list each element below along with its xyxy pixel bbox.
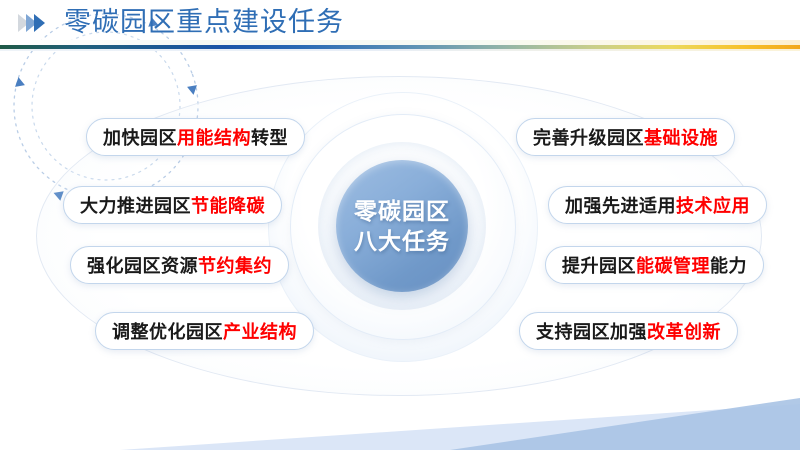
chevron-right-icon-3 — [34, 14, 45, 32]
header-rule-thin — [0, 49, 800, 51]
task-pill-right-1[interactable]: 完善升级园区基础设施 — [516, 118, 735, 156]
slide-canvas: 零碳园区重点建设任务 零碳园区 八大任务 加快园区用能结构转型 大力推进园区节能… — [0, 0, 800, 450]
task-pill-left-3[interactable]: 强化园区资源节约集约 — [70, 246, 289, 284]
task-pill-left-4[interactable]: 调整优化园区产业结构 — [95, 312, 314, 350]
task-label-left-3: 强化园区资源节约集约 — [87, 252, 272, 278]
slide-header: 零碳园区重点建设任务 — [0, 0, 800, 52]
hub-core-line2: 八大任务 — [354, 226, 450, 256]
task-pill-right-3[interactable]: 提升园区能碳管理能力 — [545, 246, 764, 284]
task-label-left-1: 加快园区用能结构转型 — [103, 124, 288, 150]
chevron-group — [18, 14, 42, 32]
task-label-right-3: 提升园区能碳管理能力 — [562, 252, 747, 278]
task-label-right-4: 支持园区加强改革创新 — [536, 318, 721, 344]
page-title: 零碳园区重点建设任务 — [64, 5, 344, 39]
task-label-right-2: 加强先进适用技术应用 — [565, 192, 750, 218]
task-pill-right-4[interactable]: 支持园区加强改革创新 — [519, 312, 738, 350]
hub-core: 零碳园区 八大任务 — [336, 160, 468, 292]
task-pill-left-2[interactable]: 大力推进园区节能降碳 — [63, 186, 282, 224]
task-label-left-2: 大力推进园区节能降碳 — [80, 192, 265, 218]
task-label-right-1: 完善升级园区基础设施 — [533, 124, 718, 150]
hub-core-line1: 零碳园区 — [354, 196, 450, 226]
task-pill-left-1[interactable]: 加快园区用能结构转型 — [86, 118, 305, 156]
task-label-left-4: 调整优化园区产业结构 — [112, 318, 297, 344]
task-pill-right-2[interactable]: 加强先进适用技术应用 — [548, 186, 767, 224]
